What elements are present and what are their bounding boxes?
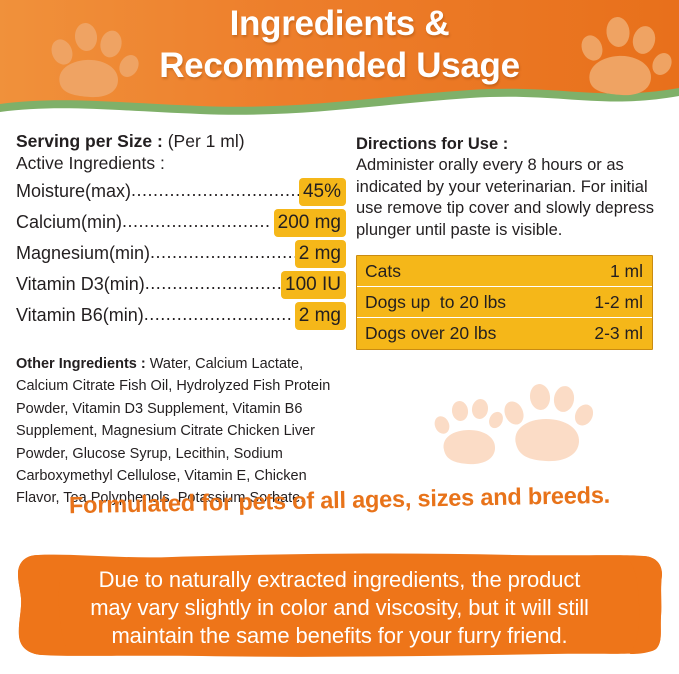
leader-dots: ........................... bbox=[144, 304, 295, 325]
product-label-page: Ingredients & Recommended Usage Serving … bbox=[0, 0, 679, 674]
disclaimer-line-1: Due to naturally extracted ingredients, … bbox=[12, 566, 667, 594]
disclaimer-line-3: maintain the same benefits for your furr… bbox=[12, 622, 667, 650]
leader-dots: ........................... bbox=[150, 242, 295, 263]
table-row: Vitamin D3(min) ........................… bbox=[16, 269, 346, 300]
directions-text: Administer orally every 8 hours or as in… bbox=[356, 155, 666, 241]
leader-dots: ........................... bbox=[122, 211, 274, 232]
directions-title: Directions for Use : bbox=[356, 134, 666, 155]
disclaimer-line-2: may vary slightly in color and viscosity… bbox=[12, 594, 667, 622]
table-row: Moisture(max) ..........................… bbox=[16, 176, 346, 207]
directions-column: Directions for Use : Administer orally e… bbox=[356, 134, 666, 350]
dosage-amount: 2-3 ml bbox=[594, 323, 643, 344]
paw-print-icon bbox=[432, 398, 506, 464]
dosage-animal: Cats bbox=[365, 261, 401, 282]
table-row: Dogs over 20 lbs 2-3 ml bbox=[357, 318, 652, 349]
table-row: Cats 1 ml bbox=[357, 256, 652, 287]
leader-dots: ............................... bbox=[131, 180, 299, 201]
ingredient-value: 200 mg bbox=[274, 209, 346, 237]
leader-dots: .......................... bbox=[145, 273, 281, 294]
table-row: Vitamin B6(min) ........................… bbox=[16, 300, 346, 331]
ingredient-name: Moisture(max) bbox=[16, 181, 131, 202]
disclaimer-banner: Due to naturally extracted ingredients, … bbox=[12, 550, 667, 662]
dosage-amount: 1-2 ml bbox=[594, 292, 643, 313]
ingredient-name: Vitamin B6(min) bbox=[16, 305, 144, 326]
title-line-1: Ingredients & bbox=[0, 3, 679, 45]
disclaimer-text: Due to naturally extracted ingredients, … bbox=[12, 566, 667, 650]
ingredient-name: Magnesium(min) bbox=[16, 243, 150, 264]
header-banner: Ingredients & Recommended Usage bbox=[0, 0, 679, 118]
paw-print-icon bbox=[501, 383, 597, 461]
table-row: Dogs up to 20 lbs 1-2 ml bbox=[357, 287, 652, 318]
page-title: Ingredients & Recommended Usage bbox=[0, 3, 679, 87]
title-line-2: Recommended Usage bbox=[0, 45, 679, 87]
ingredient-name: Vitamin D3(min) bbox=[16, 274, 145, 295]
serving-size-line: Serving per Size : (Per 1 ml) bbox=[16, 130, 346, 152]
ingredient-value: 2 mg bbox=[295, 302, 346, 330]
other-ingredients-label: Other Ingredients : bbox=[16, 356, 146, 372]
dosage-table: Cats 1 ml Dogs up to 20 lbs 1-2 ml Dogs … bbox=[356, 255, 653, 350]
dosage-animal: Dogs over 20 lbs bbox=[365, 323, 496, 344]
ingredient-value: 2 mg bbox=[295, 240, 346, 268]
other-ingredients-text: Water, Calcium Lactate, Calcium Citrate … bbox=[16, 356, 330, 506]
serving-size-label: Serving per Size : bbox=[16, 131, 163, 151]
dosage-animal: Dogs up to 20 lbs bbox=[365, 292, 506, 313]
ingredients-column: Serving per Size : (Per 1 ml) Active Ing… bbox=[16, 130, 346, 510]
active-ingredients-table: Moisture(max) ..........................… bbox=[16, 176, 346, 331]
table-row: Calcium(min) ...........................… bbox=[16, 207, 346, 238]
ingredient-value: 100 IU bbox=[281, 271, 346, 299]
other-ingredients-block: Other Ingredients : Water, Calcium Lacta… bbox=[16, 353, 350, 510]
dosage-amount: 1 ml bbox=[610, 261, 643, 282]
ingredient-name: Calcium(min) bbox=[16, 212, 122, 233]
active-ingredients-label: Active Ingredients : bbox=[16, 152, 346, 175]
paw-print-decoration bbox=[430, 378, 620, 478]
table-row: Magnesium(min) .........................… bbox=[16, 238, 346, 269]
ingredient-value: 45% bbox=[299, 178, 346, 206]
serving-size-value: (Per 1 ml) bbox=[168, 131, 245, 151]
